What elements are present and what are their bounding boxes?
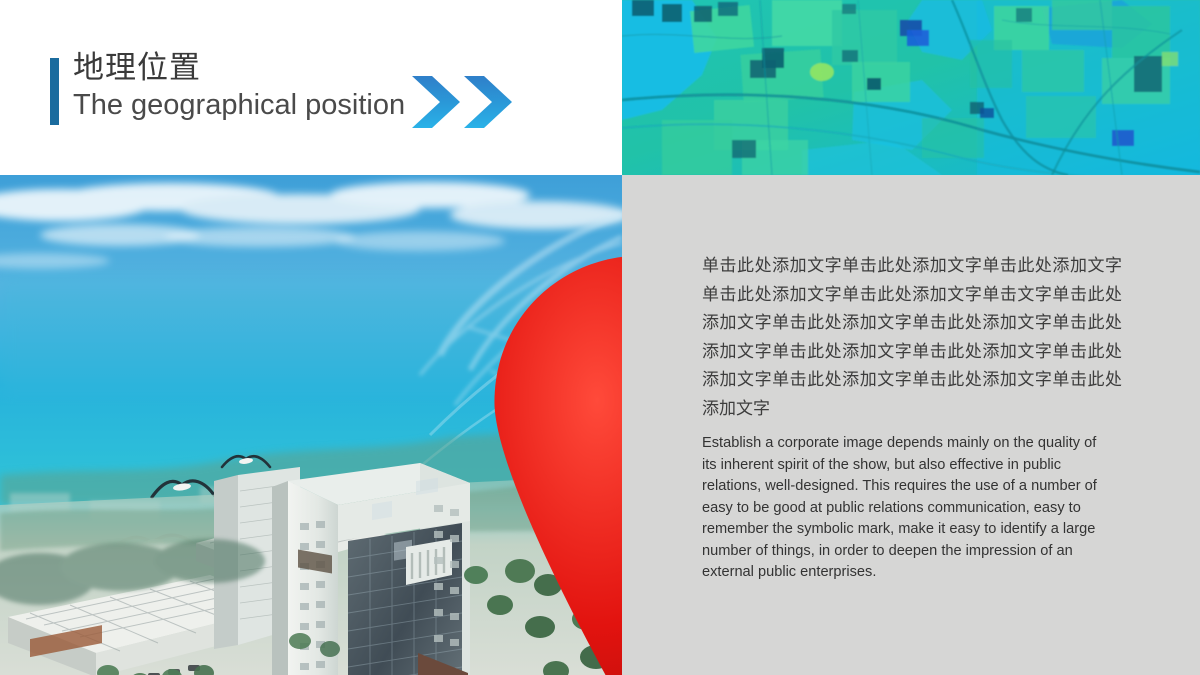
title-chinese: 地理位置 [73, 50, 413, 87]
english-paragraph: Establish a corporate image depends main… [702, 433, 1102, 584]
content-panel: 单击此处添加文字单击此处添加文字单击此处添加文字单击此处添加文字单击此处添加文字… [622, 175, 1200, 675]
satellite-map-image [622, 0, 1200, 175]
building-aerial-photo [0, 175, 622, 675]
title-accent-bar [50, 58, 59, 125]
double-chevron-right-icon [410, 74, 520, 130]
title-english: The geographical position [73, 87, 413, 123]
page-title: 地理位置 The geographical position [73, 50, 413, 123]
chinese-paragraph: 单击此处添加文字单击此处添加文字单击此处添加文字单击此处添加文字单击此处添加文字… [702, 252, 1122, 423]
map-pin-icon [330, 247, 370, 305]
slide-canvas: 地理位置 The geographical position [0, 0, 1200, 675]
slide-header: 地理位置 The geographical position [0, 0, 622, 175]
